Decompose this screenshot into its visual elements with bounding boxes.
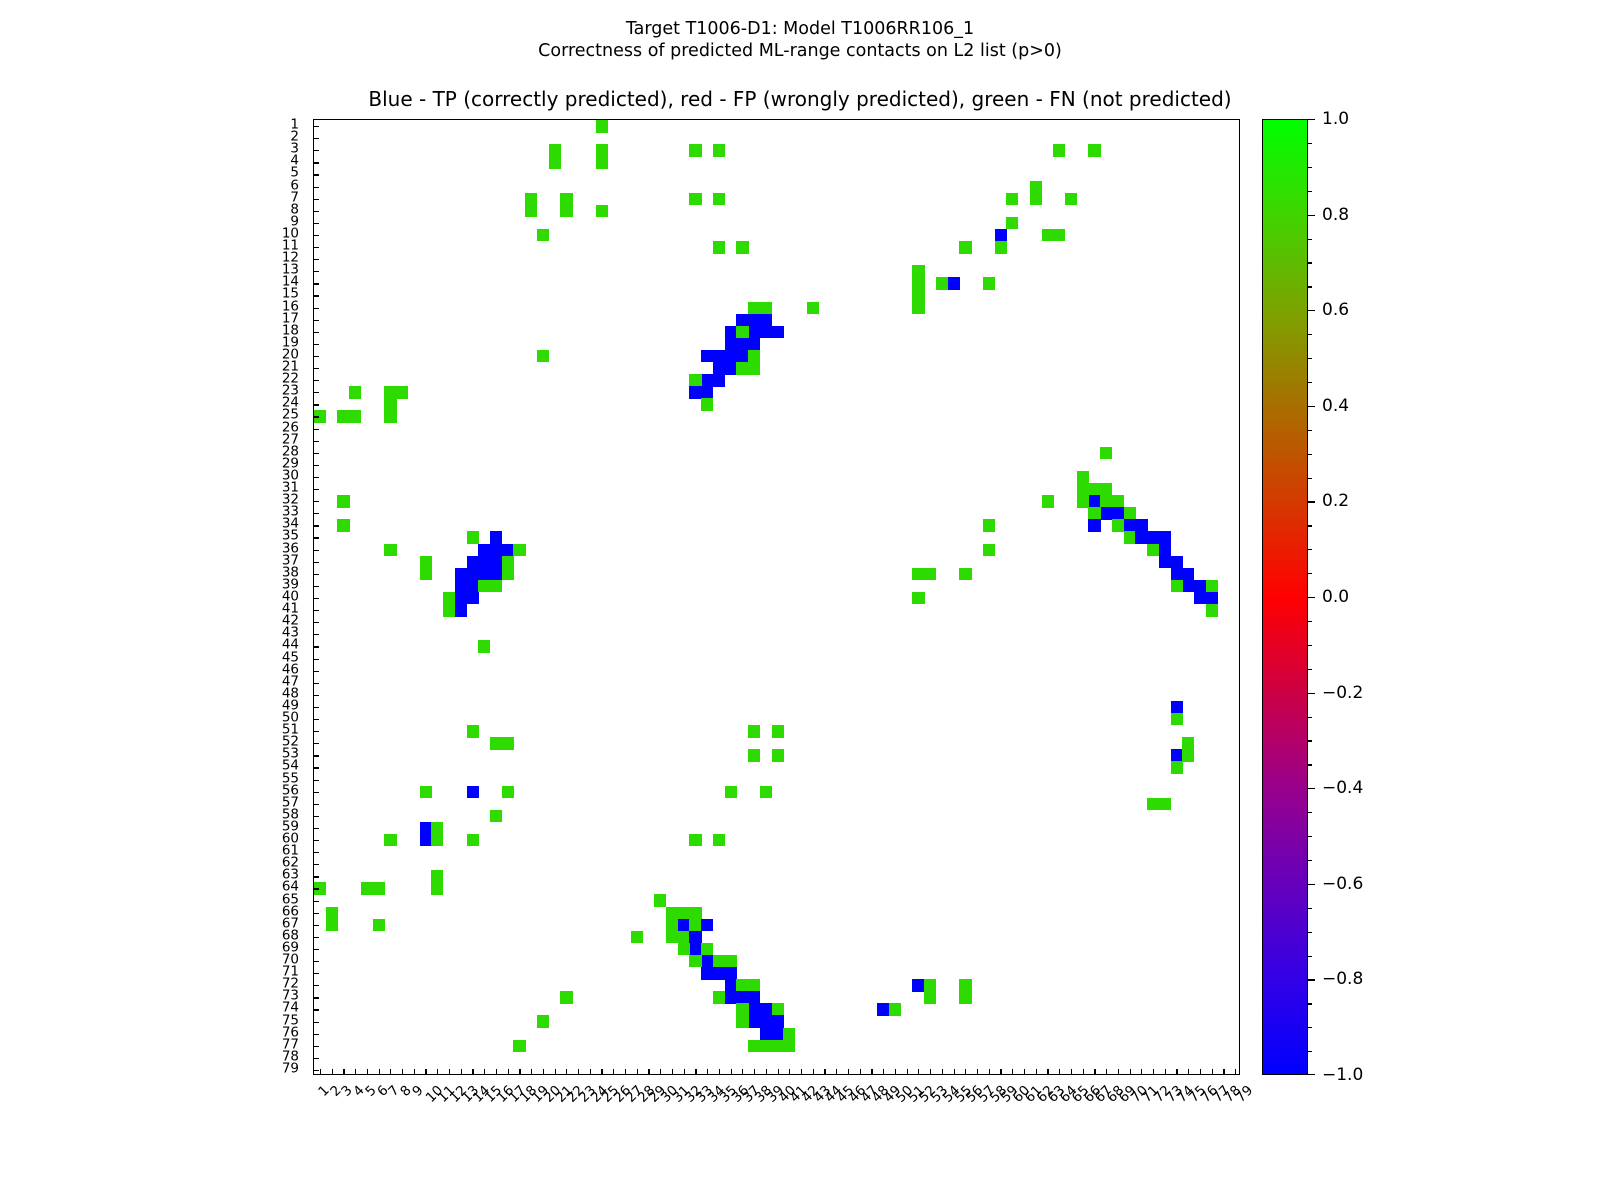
colorbar-minor-tick (1308, 645, 1312, 646)
heatmap-cell (689, 834, 701, 847)
y-axis-tick (314, 1046, 319, 1047)
colorbar-minor-tick (1308, 191, 1312, 192)
x-axis-tick (1200, 1069, 1201, 1074)
heatmap-cell (549, 156, 561, 169)
heatmap-cell (1124, 519, 1136, 532)
x-axis-tick (555, 1069, 556, 1074)
heatmap-cell (431, 834, 443, 847)
heatmap-cell (1006, 217, 1018, 230)
y-axis-tick (314, 586, 319, 587)
x-axis-tick (907, 1069, 908, 1074)
colorbar-minor-tick (1308, 286, 1312, 287)
x-axis-tick (590, 1069, 591, 1074)
heatmap-cell (596, 156, 608, 169)
heatmap-cell (1171, 761, 1183, 774)
heatmap-cell (455, 604, 467, 617)
heatmap-cell (678, 943, 690, 956)
x-axis-tick (789, 1069, 790, 1074)
y-axis-tick (314, 622, 319, 623)
heatmap-cell (1206, 580, 1218, 593)
heatmap-cell (502, 556, 514, 569)
heatmap-cell (420, 834, 432, 847)
x-axis-tick (449, 1069, 450, 1074)
heatmap-cell (760, 302, 772, 315)
colorbar-minor-tick (1308, 1051, 1312, 1052)
y-axis-tick (314, 646, 319, 647)
heatmap-cell (959, 568, 971, 581)
heatmap-cell (713, 241, 725, 254)
heatmap-cell (490, 810, 502, 823)
x-axis-tick (731, 1069, 732, 1074)
x-axis-tick (648, 1069, 649, 1074)
heatmap-cell (478, 544, 490, 557)
colorbar-tick-label: −0.8 (1322, 969, 1363, 989)
heatmap-cell (467, 580, 479, 593)
x-axis-tick (425, 1069, 426, 1074)
colorbar-minor-tick (1308, 740, 1312, 741)
y-axis-tick (314, 1058, 319, 1059)
y-axis-tick (314, 743, 319, 744)
heatmap-cell (361, 882, 373, 895)
heatmap-cell (713, 834, 725, 847)
heatmap-cell (1147, 798, 1159, 811)
heatmap-cell (748, 1040, 760, 1053)
heatmap-cell (1030, 181, 1042, 194)
x-axis-tick (531, 1069, 532, 1074)
heatmap-cell (1147, 531, 1159, 544)
heatmap-cell (678, 907, 690, 920)
y-axis-tick (314, 429, 319, 430)
x-axis-tick (1059, 1069, 1060, 1074)
heatmap-cell (689, 919, 701, 932)
y-axis-tick (314, 271, 319, 272)
heatmap-cell (513, 544, 525, 557)
x-axis-tick (989, 1069, 990, 1074)
y-axis-tick (314, 465, 319, 466)
y-axis-tick (314, 792, 319, 793)
heatmap-cell (995, 241, 1007, 254)
heatmap-cell (384, 410, 396, 423)
heatmap-cell (701, 398, 713, 411)
heatmap-cell (748, 1015, 760, 1028)
x-axis-tick (1212, 1069, 1213, 1074)
x-axis-tick (684, 1069, 685, 1074)
heatmap-cell (689, 193, 701, 206)
heatmap-cell (959, 241, 971, 254)
x-axis-tick (1000, 1069, 1001, 1074)
x-axis-tick (660, 1069, 661, 1074)
x-axis-tick (578, 1069, 579, 1074)
y-axis-tick (314, 840, 319, 841)
heatmap-cell (1206, 604, 1218, 617)
heatmap-cell (760, 1028, 772, 1041)
x-axis-tick (1130, 1069, 1131, 1074)
y-axis-tick (314, 332, 319, 333)
heatmap-cell (490, 580, 502, 593)
x-axis-tick (613, 1069, 614, 1074)
heatmap-cell (772, 1015, 784, 1028)
heatmap-cell (725, 967, 737, 980)
heatmap-cell (455, 580, 467, 593)
heatmap-cell (502, 544, 514, 557)
x-axis-tick (1083, 1069, 1084, 1074)
x-axis-tick (332, 1069, 333, 1074)
heatmap-cell (1042, 229, 1054, 242)
colorbar-minor-tick (1308, 764, 1312, 765)
heatmap-cell (1006, 193, 1018, 206)
y-axis-tick (314, 525, 319, 526)
heatmap-cell (596, 205, 608, 218)
heatmap-cell (1171, 568, 1183, 581)
heatmap-cell (420, 568, 432, 581)
y-axis-tick (314, 380, 319, 381)
heatmap-cell (713, 350, 725, 363)
y-axis-tick (314, 453, 319, 454)
heatmap-cell (725, 991, 737, 1004)
colorbar-minor-tick (1308, 812, 1312, 813)
colorbar-tick-label: −0.2 (1322, 683, 1363, 703)
y-axis-tick (314, 368, 319, 369)
heatmap-cell (1030, 193, 1042, 206)
colorbar-minor-tick (1308, 956, 1312, 957)
contact-map-figure: Target T1006-D1: Model T1006RR106_1 Corr… (0, 0, 1600, 1200)
heatmap-cell (701, 955, 713, 968)
colorbar-minor-tick (1308, 836, 1312, 837)
heatmap-cell (689, 374, 701, 387)
heatmap-cell (713, 967, 725, 980)
x-axis-tick (848, 1069, 849, 1074)
colorbar-minor-tick (1308, 573, 1312, 574)
heatmap-cell (772, 326, 784, 339)
heatmap-cell (490, 556, 502, 569)
x-axis-tick (672, 1069, 673, 1074)
heatmap-cell (549, 144, 561, 157)
heatmap-cell (748, 302, 760, 315)
x-axis-tick (1235, 1069, 1236, 1074)
heatmap-cell (1135, 531, 1147, 544)
heatmap-cell (1182, 737, 1194, 750)
heatmap-cell (736, 338, 748, 351)
x-axis-tick (496, 1069, 497, 1074)
heatmap-cell (384, 834, 396, 847)
heatmap-cell (689, 931, 701, 944)
y-axis-tick (314, 888, 319, 889)
heatmap-cell (678, 919, 690, 932)
heatmap-cell (748, 338, 760, 351)
y-axis-tick (314, 404, 319, 405)
x-axis-tick (355, 1069, 356, 1074)
colorbar-minor-tick (1308, 693, 1312, 694)
colorbar-minor-tick (1308, 979, 1312, 980)
heatmap-cell (1112, 495, 1124, 508)
x-axis-tick (942, 1069, 943, 1074)
colorbar-minor-tick (1308, 239, 1312, 240)
colorbar-tick-label: −0.6 (1322, 874, 1363, 894)
colorbar-minor-tick (1308, 908, 1312, 909)
x-axis-tick (707, 1069, 708, 1074)
y-axis-tick-label: 79 (282, 1062, 299, 1076)
heatmap-cell (748, 326, 760, 339)
x-axis-tick (801, 1069, 802, 1074)
colorbar-minor-tick (1308, 1027, 1312, 1028)
heatmap-cell (666, 919, 678, 932)
heatmap-cell (1065, 193, 1077, 206)
x-axis-tick (895, 1069, 896, 1074)
heatmap-cell (478, 556, 490, 569)
heatmap-cell (736, 241, 748, 254)
heatmap-cell (666, 931, 678, 944)
heatmap-cell (701, 386, 713, 399)
heatmap-cell (701, 967, 713, 980)
heatmap-cell (713, 362, 725, 375)
heatmap-cell (1088, 495, 1100, 508)
y-axis-tick (314, 973, 319, 974)
heatmap-cell (537, 1015, 549, 1028)
x-axis-tick (1012, 1069, 1013, 1074)
heatmap-cell (736, 1003, 748, 1016)
y-axis-tick (314, 211, 319, 212)
heatmap-cell (877, 1003, 889, 1016)
heatmap-cell (1100, 507, 1112, 520)
x-axis-tick (1141, 1069, 1142, 1074)
heatmap-cell (807, 302, 819, 315)
heatmap-cell (1194, 592, 1206, 605)
y-axis-tick (314, 126, 319, 127)
colorbar-minor-tick (1308, 669, 1312, 670)
heatmap-cell (1182, 749, 1194, 762)
y-axis-tick (314, 489, 319, 490)
y-axis-tick (314, 755, 319, 756)
heatmap-cell (701, 919, 713, 932)
y-axis-tick (314, 513, 319, 514)
heatmap-cell (420, 822, 432, 835)
heatmap-cell (772, 749, 784, 762)
colorbar-minor-tick (1308, 597, 1312, 598)
x-axis-tick (977, 1069, 978, 1074)
heatmap-cell (443, 604, 455, 617)
heatmap-cell (713, 144, 725, 157)
y-axis-tick (314, 416, 319, 417)
heatmap-cell (1124, 531, 1136, 544)
heatmap-cell (467, 786, 479, 799)
heatmap-cell (1100, 483, 1112, 496)
heatmap-cell (924, 568, 936, 581)
x-axis-tick (871, 1069, 872, 1074)
heatmap-cell (525, 193, 537, 206)
heatmap-cell (725, 979, 737, 992)
y-axis-tick (314, 925, 319, 926)
heatmap-cell (748, 314, 760, 327)
heatmap-cell (736, 1015, 748, 1028)
heatmap-cell (713, 991, 725, 1004)
x-axis-tick (519, 1069, 520, 1074)
x-axis-tick (402, 1069, 403, 1074)
colorbar-minor-tick (1308, 215, 1312, 216)
y-axis-tick (314, 174, 319, 175)
colorbar-minor-tick (1308, 525, 1312, 526)
heatmap-cell (713, 374, 725, 387)
heatmap-cell (924, 991, 936, 1004)
y-axis-tick (314, 199, 319, 200)
heatmap-cell (1077, 471, 1089, 484)
title-line-2: Correctness of predicted ML-range contac… (0, 40, 1600, 62)
heatmap-cell (689, 907, 701, 920)
heatmap-cell (689, 955, 701, 968)
x-axis-tick (390, 1069, 391, 1074)
heatmap-cell (1100, 495, 1112, 508)
heatmap-cell (689, 943, 701, 956)
y-axis-tick (314, 610, 319, 611)
x-axis-tick (543, 1069, 544, 1074)
heatmap-cell (725, 362, 737, 375)
heatmap-cell (1088, 483, 1100, 496)
heatmap-cell (736, 979, 748, 992)
y-axis-tick (314, 816, 319, 817)
heatmap-cell (490, 531, 502, 544)
heatmap-cell (384, 544, 396, 557)
x-axis-tick (778, 1069, 779, 1074)
colorbar-minor-tick (1308, 860, 1312, 861)
heatmap-cell (689, 386, 701, 399)
colorbar-minor-tick (1308, 549, 1312, 550)
x-axis-tick (601, 1069, 602, 1074)
heatmap-cell (455, 568, 467, 581)
y-axis-tick (314, 671, 319, 672)
heatmap-cell (748, 1003, 760, 1016)
heatmap-cell (537, 229, 549, 242)
x-axis-labels: 1234567891011121314151617181920212223242… (313, 1081, 1240, 1181)
heatmap-cell (1088, 519, 1100, 532)
y-axis-tick (314, 876, 319, 877)
y-axis-tick (314, 235, 319, 236)
heatmap-cell (1159, 544, 1171, 557)
y-axis-tick (314, 852, 319, 853)
colorbar-tick-label: 0.8 (1322, 205, 1349, 225)
y-axis-tick (314, 295, 319, 296)
heatmap-cell (631, 931, 643, 944)
heatmap-cell (666, 907, 678, 920)
colorbar-minor-tick (1308, 382, 1312, 383)
y-axis-tick (314, 634, 319, 635)
y-axis-tick (314, 1034, 319, 1035)
heatmap-cell (431, 822, 443, 835)
x-axis-tick (813, 1069, 814, 1074)
colorbar-minor-tick (1308, 143, 1312, 144)
colorbar: 1.00.80.60.40.20.0−0.2−0.4−0.6−0.8−1.0 (1262, 119, 1382, 1075)
heatmap-cell (725, 326, 737, 339)
heatmap-cell (1147, 544, 1159, 557)
y-axis-tick (314, 537, 319, 538)
heatmap-cell (478, 580, 490, 593)
heatmap-cell (1159, 531, 1171, 544)
colorbar-minor-tick (1308, 884, 1312, 885)
colorbar-minor-tick (1308, 621, 1312, 622)
y-axis-tick (314, 804, 319, 805)
y-axis-tick (314, 913, 319, 914)
colorbar-tick-label: −0.4 (1322, 778, 1363, 798)
y-axis-tick (314, 828, 319, 829)
colorbar-minor-tick (1308, 1074, 1312, 1075)
heatmap-cell (725, 338, 737, 351)
colorbar-minor-tick (1308, 430, 1312, 431)
x-axis-tick (1071, 1069, 1072, 1074)
x-axis-tick (766, 1069, 767, 1074)
heatmap-cell (760, 326, 772, 339)
heatmap-cell (467, 725, 479, 738)
y-axis-tick (314, 344, 319, 345)
heatmap-cell (654, 894, 666, 907)
heatmap-cell (467, 568, 479, 581)
x-axis-tick (414, 1069, 415, 1074)
heatmap-cell (396, 386, 408, 399)
heatmap-cell (1088, 507, 1100, 520)
heatmap-cell (537, 350, 549, 363)
colorbar-tick-label: 0.4 (1322, 396, 1349, 416)
y-axis-tick (314, 949, 319, 950)
heatmap-cell (1171, 556, 1183, 569)
heatmap-cell (1135, 519, 1147, 532)
heatmap-cell (912, 265, 924, 278)
heatmap-cell (596, 120, 608, 133)
heatmap-cell (924, 979, 936, 992)
contact-map-plot (313, 119, 1240, 1075)
heatmap-cell (912, 592, 924, 605)
heatmap-cell (384, 398, 396, 411)
heatmap-cell (983, 277, 995, 290)
heatmap-cell (748, 749, 760, 762)
heatmap-cell (713, 955, 725, 968)
heatmap-cell (560, 991, 572, 1004)
y-axis-labels: 1234567891011121314151617181920212223242… (0, 119, 308, 1075)
heatmap-cell (1088, 144, 1100, 157)
heatmap-cell (560, 193, 572, 206)
heatmap-cell (467, 592, 479, 605)
heatmap-cell (983, 544, 995, 557)
heatmap-cell (748, 350, 760, 363)
title-line-1: Target T1006-D1: Model T1006RR106_1 (0, 18, 1600, 40)
x-axis-tick (367, 1069, 368, 1074)
heatmap-cell (912, 302, 924, 315)
heatmap-cell (1171, 713, 1183, 726)
heatmap-cell (384, 386, 396, 399)
heatmap-cell (1053, 144, 1065, 157)
x-axis-tick (508, 1069, 509, 1074)
y-axis-tick (314, 162, 319, 163)
heatmap-cell (560, 205, 572, 218)
y-axis-tick (314, 719, 319, 720)
x-axis-tick (754, 1069, 755, 1074)
colorbar-minor-tick (1308, 501, 1312, 502)
heatmap-cell (748, 991, 760, 1004)
heatmap-cell (701, 374, 713, 387)
x-axis-tick (461, 1069, 462, 1074)
heatmap-cell (959, 991, 971, 1004)
x-axis-tick (918, 1069, 919, 1074)
y-axis-tick (314, 598, 319, 599)
y-axis-tick (314, 780, 319, 781)
heatmap-cell (1077, 483, 1089, 496)
figure-title: Target T1006-D1: Model T1006RR106_1 Corr… (0, 18, 1600, 63)
heatmap-cell (420, 556, 432, 569)
colorbar-tick-label: 1.0 (1322, 109, 1349, 129)
y-axis-tick (314, 997, 319, 998)
heatmap-cell (1194, 580, 1206, 593)
colorbar-minor-tick (1308, 262, 1312, 263)
heatmap-cell (760, 786, 772, 799)
heatmap-cell (912, 289, 924, 302)
heatmap-cell (337, 519, 349, 532)
y-axis-tick (314, 392, 319, 393)
